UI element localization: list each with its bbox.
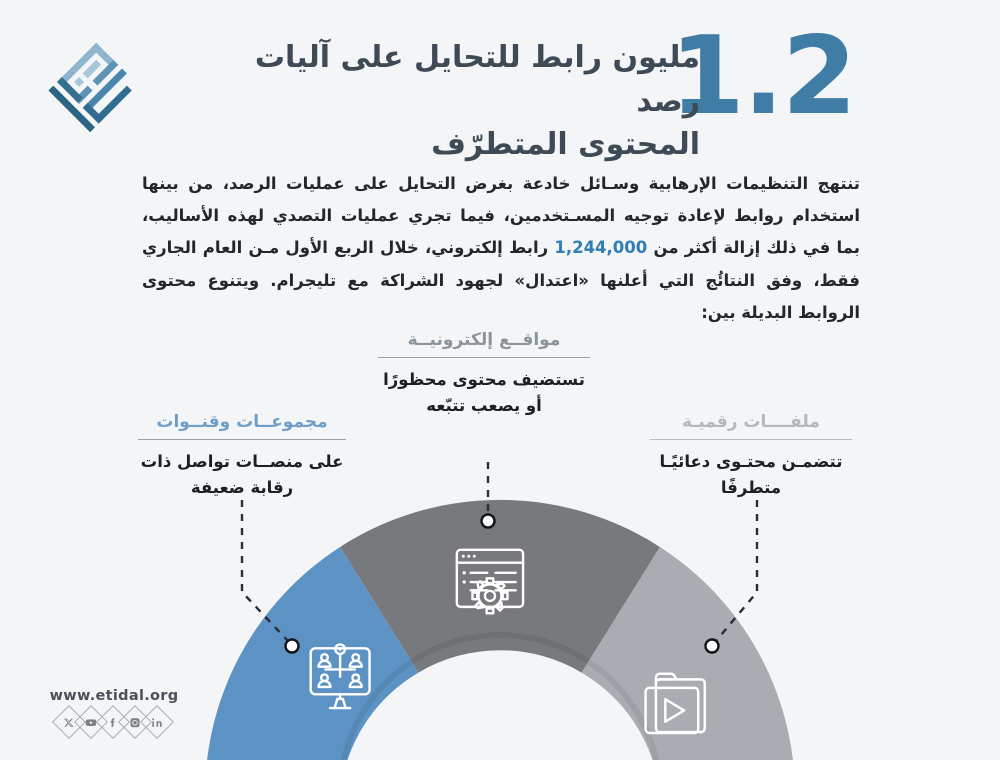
- callout-digital-files-description: تتضمـن محتـوى دعائيًـا متطرفًا: [650, 449, 852, 500]
- callout-divider: [650, 439, 852, 440]
- desc-line-2: رقابة ضعيفة: [138, 475, 346, 501]
- desc-line-2: أو يصعب تتبّعه: [378, 393, 590, 419]
- footer: www.etidal.org: [34, 688, 194, 734]
- connector-digital-files: [706, 500, 758, 653]
- connector-node: [286, 640, 299, 653]
- callout-groups-channels-description: على منصــات تواصل ذات رقابة ضعيفة: [138, 449, 346, 500]
- connector-node: [706, 640, 719, 653]
- callout-digital-files: ملفــــات رقميـة تتضمـن محتـوى دعائيًـا …: [650, 412, 852, 500]
- callout-groups-channels: مجموعــات وقنــوات على منصــات تواصل ذات…: [138, 412, 346, 500]
- group-monitor-icon: [311, 644, 370, 708]
- intro-paragraph: تنتهج التنظيمات الإرهابية وسـائل خادعة ب…: [142, 168, 860, 329]
- callout-websites-description: تستضيف محتوى محظورًا أو يصعب تتبّعه: [378, 367, 590, 418]
- donut-inner-rim: [340, 635, 660, 760]
- headline-line-1: مليون رابط للتحايل على آليات رصد: [220, 36, 700, 123]
- instagram-glyph: [130, 717, 141, 728]
- facebook-glyph: [108, 717, 119, 728]
- connector-node: [482, 515, 495, 528]
- callout-digital-files-title: ملفــــات رقميـة: [650, 412, 852, 439]
- youtube-glyph: [86, 717, 97, 728]
- desc-line-1: تستضيف محتوى محظورًا: [378, 367, 590, 393]
- browser-gear-icon: [457, 550, 523, 613]
- desc-line-1: على منصــات تواصل ذات: [138, 449, 346, 475]
- donut-segments: [205, 500, 795, 760]
- header: 1.2 مليون رابط للتحايل على آليات رصد الم…: [0, 0, 1000, 160]
- etidal-logo[interactable]: [36, 42, 154, 146]
- connector-groups-channels: [242, 500, 299, 653]
- social-links: [34, 710, 194, 734]
- linkedin-glyph: [152, 717, 163, 728]
- callout-websites-title: مواقــع إلكترونيــة: [378, 330, 590, 357]
- x-twitter-glyph: [64, 717, 75, 728]
- etidal-kufic-logo: [36, 42, 154, 146]
- donut-segment-websites: [340, 500, 660, 673]
- callout-divider: [138, 439, 346, 440]
- callout-websites: مواقــع إلكترونيــة تستضيف محتوى محظورًا…: [378, 330, 590, 418]
- callout-divider: [378, 357, 590, 358]
- page-title: مليون رابط للتحايل على آليات رصد المحتوى…: [220, 36, 700, 167]
- linkedin-icon[interactable]: [140, 705, 174, 739]
- donut-segment-digital-files: [582, 547, 795, 760]
- folder-play-icon: [646, 674, 705, 733]
- donut-segment-groups-channels: [205, 547, 418, 760]
- website-url[interactable]: www.etidal.org: [34, 688, 194, 704]
- desc-line-2: متطرفًا: [650, 475, 852, 501]
- connector-websites: [482, 462, 495, 528]
- callout-groups-channels-title: مجموعــات وقنــوات: [138, 412, 346, 439]
- intro-highlight-number: 1,244,000: [554, 238, 647, 257]
- connector-line: [242, 500, 288, 641]
- desc-line-1: تتضمـن محتـوى دعائيًـا: [650, 449, 852, 475]
- connector-line: [716, 500, 757, 641]
- headline-line-2: المحتوى المتطرّف: [220, 123, 700, 167]
